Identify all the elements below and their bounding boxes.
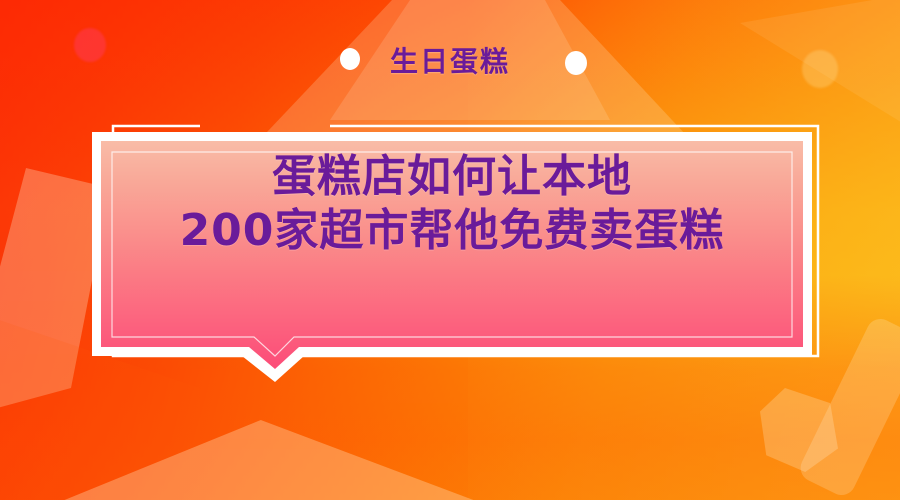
poster-headline: 蛋糕店如何让本地 200家超市帮他免费卖蛋糕	[92, 150, 812, 257]
speech-bubble: 蛋糕店如何让本地 200家超市帮他免费卖蛋糕	[92, 132, 812, 382]
headline-line-1: 蛋糕店如何让本地	[92, 150, 812, 204]
headline-line-2: 200家超市帮他免费卖蛋糕	[92, 204, 812, 258]
poster-canvas: 生日蛋糕 蛋糕店如何让本地	[0, 0, 900, 500]
